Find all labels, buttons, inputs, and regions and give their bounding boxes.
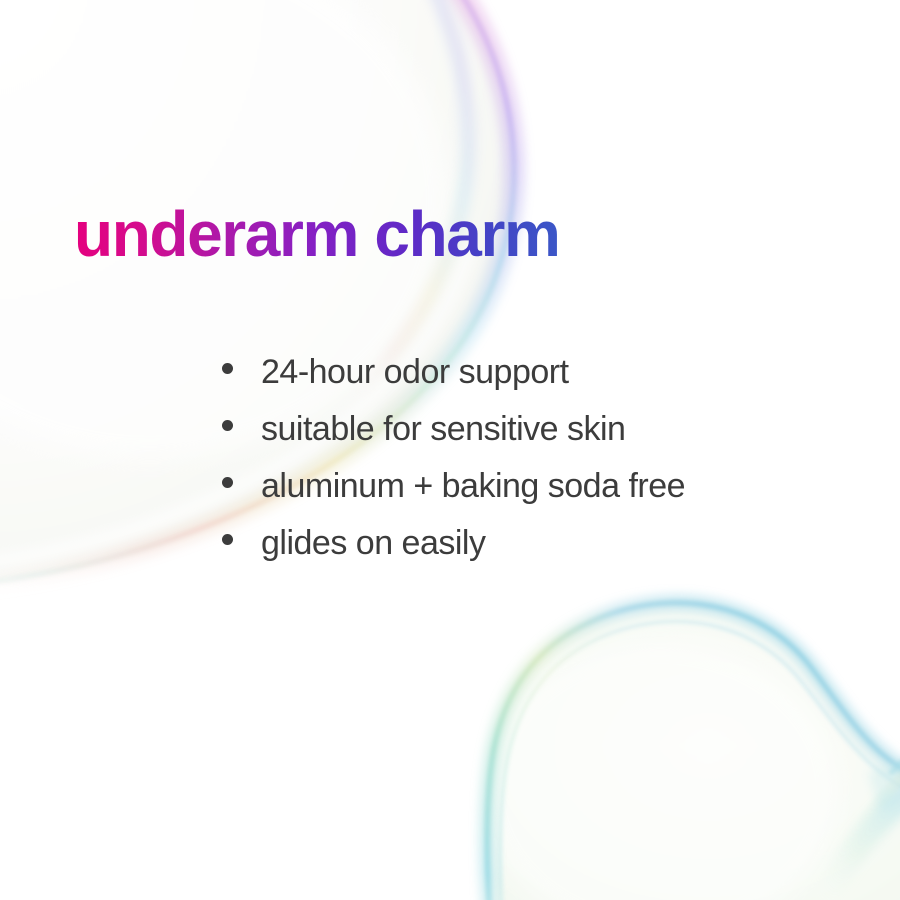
bullet-dot-icon xyxy=(222,477,233,488)
feature-label: suitable for sensitive skin xyxy=(261,409,625,449)
marketing-graphic: underarm charm 24-hour odor support suit… xyxy=(0,0,900,900)
feature-label: 24-hour odor support xyxy=(261,352,569,392)
list-item: suitable for sensitive skin xyxy=(222,409,685,466)
feature-list: 24-hour odor support suitable for sensit… xyxy=(222,352,685,580)
content-layer: underarm charm 24-hour odor support suit… xyxy=(0,0,900,900)
bullet-dot-icon xyxy=(222,420,233,431)
list-item: glides on easily xyxy=(222,523,685,580)
list-item: aluminum + baking soda free xyxy=(222,466,685,523)
feature-label: glides on easily xyxy=(261,523,485,563)
bullet-dot-icon xyxy=(222,534,233,545)
list-item: 24-hour odor support xyxy=(222,352,685,409)
page-title: underarm charm xyxy=(74,202,559,266)
feature-label: aluminum + baking soda free xyxy=(261,466,685,506)
bullet-dot-icon xyxy=(222,363,233,374)
